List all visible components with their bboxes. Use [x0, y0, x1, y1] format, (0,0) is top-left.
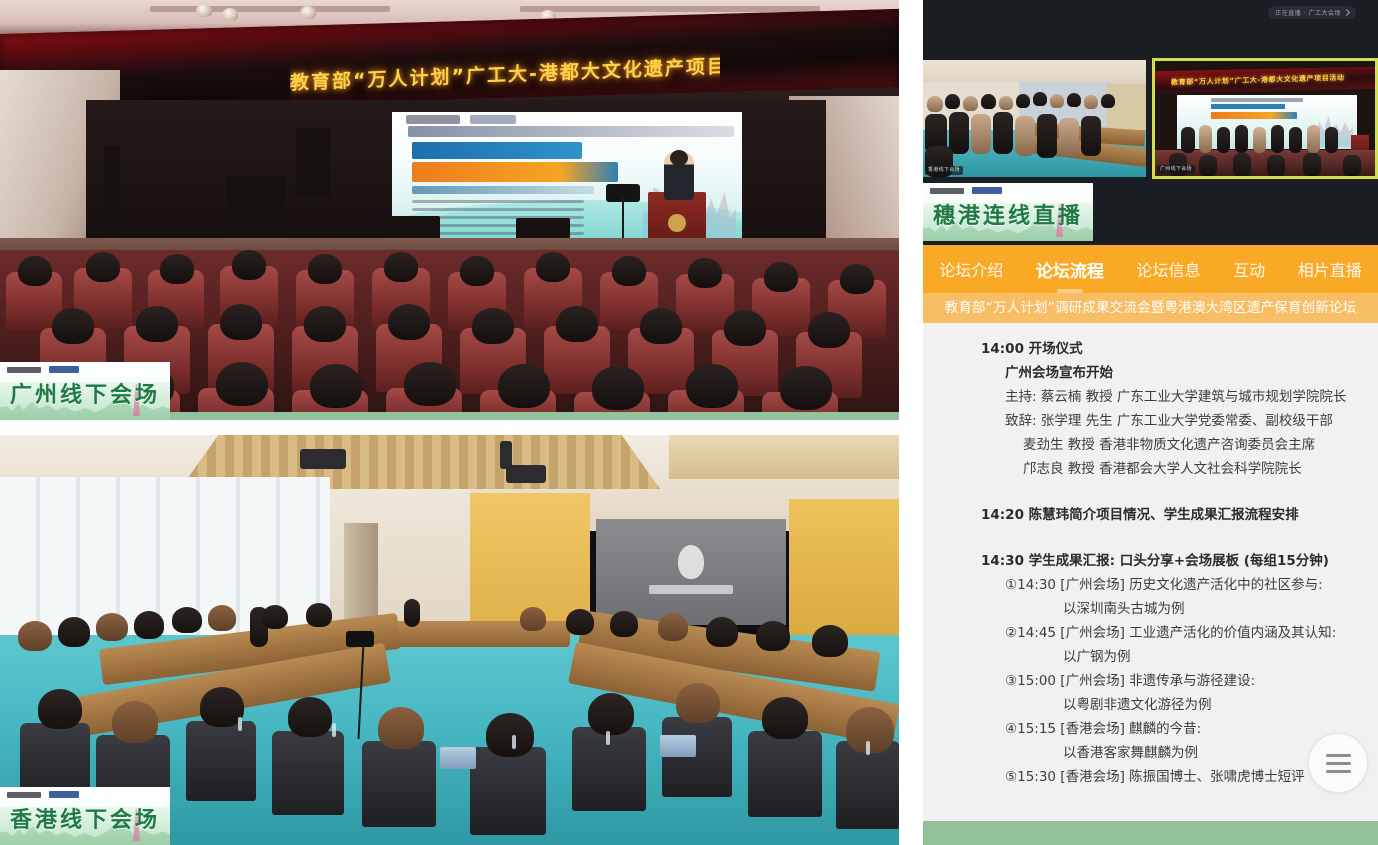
tab-forum-info[interactable]: 论坛信息: [1120, 257, 1217, 281]
attendee: [846, 707, 894, 753]
forum-title-bar: 教育部“万人计划”调研成果交流会暨粤港澳大湾区遗产保育创新论坛: [923, 293, 1378, 323]
schedule-line: 14:30 学生成果汇报: 口头分享+会场展板 (每组15分钟): [923, 549, 1378, 573]
panel-gutter: [899, 0, 923, 845]
schedule-line: 主持: 蔡云楠 教授 广东工业大学建筑与城市规划学院院长: [923, 385, 1378, 409]
attendee: [588, 693, 634, 735]
stream-overlay-banner: 穗港连线直播: [923, 183, 1093, 241]
speaker-cabinet: [226, 176, 286, 238]
hongkong-venue-stream[interactable]: 香港线下会场: [0, 435, 899, 845]
tab-forum-intro[interactable]: 论坛介绍: [923, 257, 1020, 281]
attendee: [18, 621, 52, 651]
schedule-spacer: [923, 527, 1378, 549]
schedule-line: 14:20 陈慧玮简介项目情况、学生成果汇报流程安排: [923, 503, 1378, 527]
standing-person: [404, 599, 420, 627]
attendee: [288, 697, 332, 737]
schedule-line: 麦劲生 教授 香港非物质文化遗产咨询委员会主席: [923, 433, 1378, 457]
stream-thumbnail-hongkong[interactable]: 香港线下会场: [923, 60, 1146, 177]
attendee: [706, 617, 738, 647]
laptop: [660, 735, 696, 757]
tab-forum-schedule[interactable]: 论坛流程: [1020, 257, 1121, 282]
attendee: [112, 701, 158, 743]
attendee: [566, 609, 594, 635]
attendee: [676, 683, 720, 723]
tab-photo-live[interactable]: 相片直播: [1281, 257, 1378, 281]
attendee: [658, 613, 688, 641]
attendee: [134, 611, 164, 639]
left-video-column: 教育部“万人计划”广工大-港都大文化遗产项目活动: [0, 0, 899, 845]
presentation-screen: [596, 519, 786, 625]
ceiling-beam: [150, 6, 390, 12]
schedule-line: 以深圳南头古城为例: [923, 597, 1378, 621]
speaker-person: [664, 152, 694, 200]
thumbnail-label: 香港线下会场: [925, 166, 963, 175]
schedule-line: ③15:00 [广州会场] 非遗传承与游径建设:: [923, 669, 1378, 693]
attendee: [38, 689, 82, 729]
stream-thumbnail-guangzhou[interactable]: 教育部“万人计划”广工大-港都大文化遗产项目活动: [1152, 58, 1378, 179]
menu-button[interactable]: [1308, 733, 1368, 793]
live-status-label: 正在直播 · 广工大会场: [1275, 8, 1341, 17]
hongkong-overlay-banner: 香港线下会场: [0, 787, 170, 845]
auditorium-photo: 教育部“万人计划”广工大-港都大文化遗产项目活动: [0, 0, 899, 420]
projector-mount: [500, 441, 512, 469]
tab-bar: 论坛介绍 论坛流程 论坛信息 互动 相片直播: [923, 245, 1378, 293]
guangzhou-overlay-banner: 广州线下会场: [0, 362, 170, 420]
backdrop-title-line3: [412, 162, 618, 182]
mic-stand: [104, 146, 120, 238]
schedule-line: ④15:15 [香港会场] 麒麟的今昔:: [923, 717, 1378, 741]
attendee: [208, 605, 236, 631]
attendee: [378, 707, 424, 749]
schedule-line: 以广钢为例: [923, 645, 1378, 669]
attendee: [262, 605, 288, 629]
schedule-spacer: [923, 481, 1378, 503]
schedule-line: 邝志良 教授 香港都会大学人文社会科学院院长: [923, 457, 1378, 481]
attendee: [812, 625, 848, 657]
schedule-line: 以粤剧非遗文化游径为例: [923, 693, 1378, 717]
attendee: [306, 603, 332, 627]
thumbnail-label: 广州线下会场: [1157, 165, 1195, 174]
hongkong-overlay-label: 香港线下会场: [0, 801, 170, 841]
attendee: [486, 713, 534, 757]
banner-logos: [930, 187, 1002, 194]
projector: [300, 449, 346, 469]
banner-logos: [7, 366, 79, 373]
camera: [346, 631, 374, 647]
projector: [506, 465, 546, 483]
chevron-right-icon: [1343, 9, 1350, 16]
stream-overlay-label: 穗港连线直播: [923, 197, 1093, 237]
backdrop-subtitle: [412, 186, 594, 194]
schedule-line: ①14:30 [广州会场] 历史文化遗产活化中的社区参与:: [923, 573, 1378, 597]
schedule-line: 致辞: 张学理 先生 广东工业大学党委常委、副校级干部: [923, 409, 1378, 433]
spotlight: [196, 4, 212, 17]
backdrop-title-line1: [408, 126, 734, 137]
livestream-page: 教育部“万人计划”广工大-港都大文化遗产项目活动: [0, 0, 1378, 845]
spotlight: [300, 6, 316, 19]
schedule-list[interactable]: 14:00 开场仪式广州会场宣布开始主持: 蔡云楠 教授 广东工业大学建筑与城市…: [923, 323, 1378, 821]
guangzhou-overlay-label: 广州线下会场: [0, 376, 170, 416]
laptop: [440, 747, 476, 769]
backdrop-title-line2: [412, 142, 582, 159]
attendee: [520, 607, 546, 631]
ceiling-beam: [520, 6, 820, 12]
screen-caption: [649, 585, 733, 594]
attendee: [96, 613, 128, 641]
backdrop-logo-secondary: [470, 115, 516, 124]
schedule-line: ②14:45 [广州会场] 工业遗产活化的价值内涵及其认知:: [923, 621, 1378, 645]
guangzhou-venue-stream[interactable]: 教育部“万人计划”广工大-港都大文化遗产项目活动: [0, 0, 899, 420]
backdrop-logo: [406, 115, 460, 124]
schedule-line: 广州会场宣布开始: [923, 361, 1378, 385]
tab-interaction[interactable]: 互动: [1217, 257, 1282, 281]
boardroom-photo: [0, 435, 899, 845]
attendee: [58, 617, 90, 647]
wood-ceiling-panel: [669, 435, 899, 479]
speaker-cabinet: [296, 128, 330, 198]
banner-logos: [7, 791, 79, 798]
bottom-bar: [923, 821, 1378, 845]
schedule-line: 14:00 开场仪式: [923, 337, 1378, 361]
attendee: [762, 697, 808, 739]
live-status-pill[interactable]: 正在直播 · 广工大会场: [1268, 6, 1356, 19]
player-stage[interactable]: 正在直播 · 广工大会场: [923, 0, 1378, 245]
right-info-panel: 正在直播 · 广工大会场: [923, 0, 1378, 845]
attendee: [172, 607, 202, 633]
spotlight: [222, 8, 238, 21]
attendee: [756, 621, 790, 651]
attendee: [610, 611, 638, 637]
screen-logo: [678, 545, 704, 579]
